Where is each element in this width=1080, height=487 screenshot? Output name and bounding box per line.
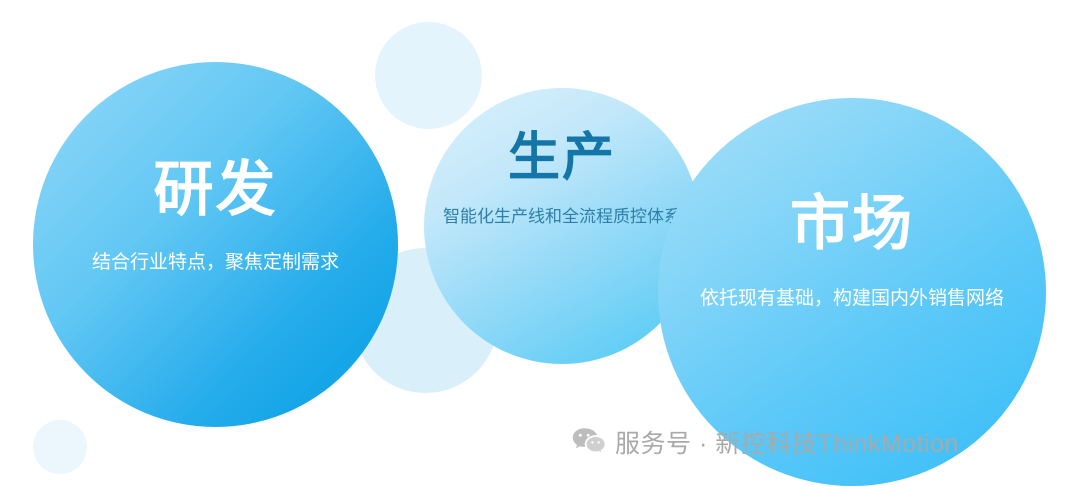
bubble-description-research-development: 结合行业特点，聚焦定制需求: [66, 248, 366, 277]
deco-circle-top: [375, 22, 482, 129]
bubble-description-production: 智能化生产线和全流程质控体系: [428, 204, 696, 230]
bubble-title-production: 生产: [508, 132, 616, 184]
bubble-title-market: 市场: [790, 194, 914, 254]
slide-canvas: 研发 结合行业特点，聚焦定制需求 生产 智能化生产线和全流程质控体系 市场 依托…: [0, 0, 1080, 487]
deco-circle-small: [33, 420, 87, 474]
bubble-market: 市场 依托现有基础，构建国内外销售网络: [658, 98, 1046, 486]
bubble-description-market: 依托现有基础，构建国内外销售网络: [693, 284, 1011, 313]
wechat-icon: [572, 427, 606, 457]
bubble-production: 生产 智能化生产线和全流程质控体系: [424, 88, 700, 364]
bubble-research-development: 研发 结合行业特点，聚焦定制需求: [33, 62, 398, 427]
bubble-title-research-development: 研发: [154, 160, 278, 220]
